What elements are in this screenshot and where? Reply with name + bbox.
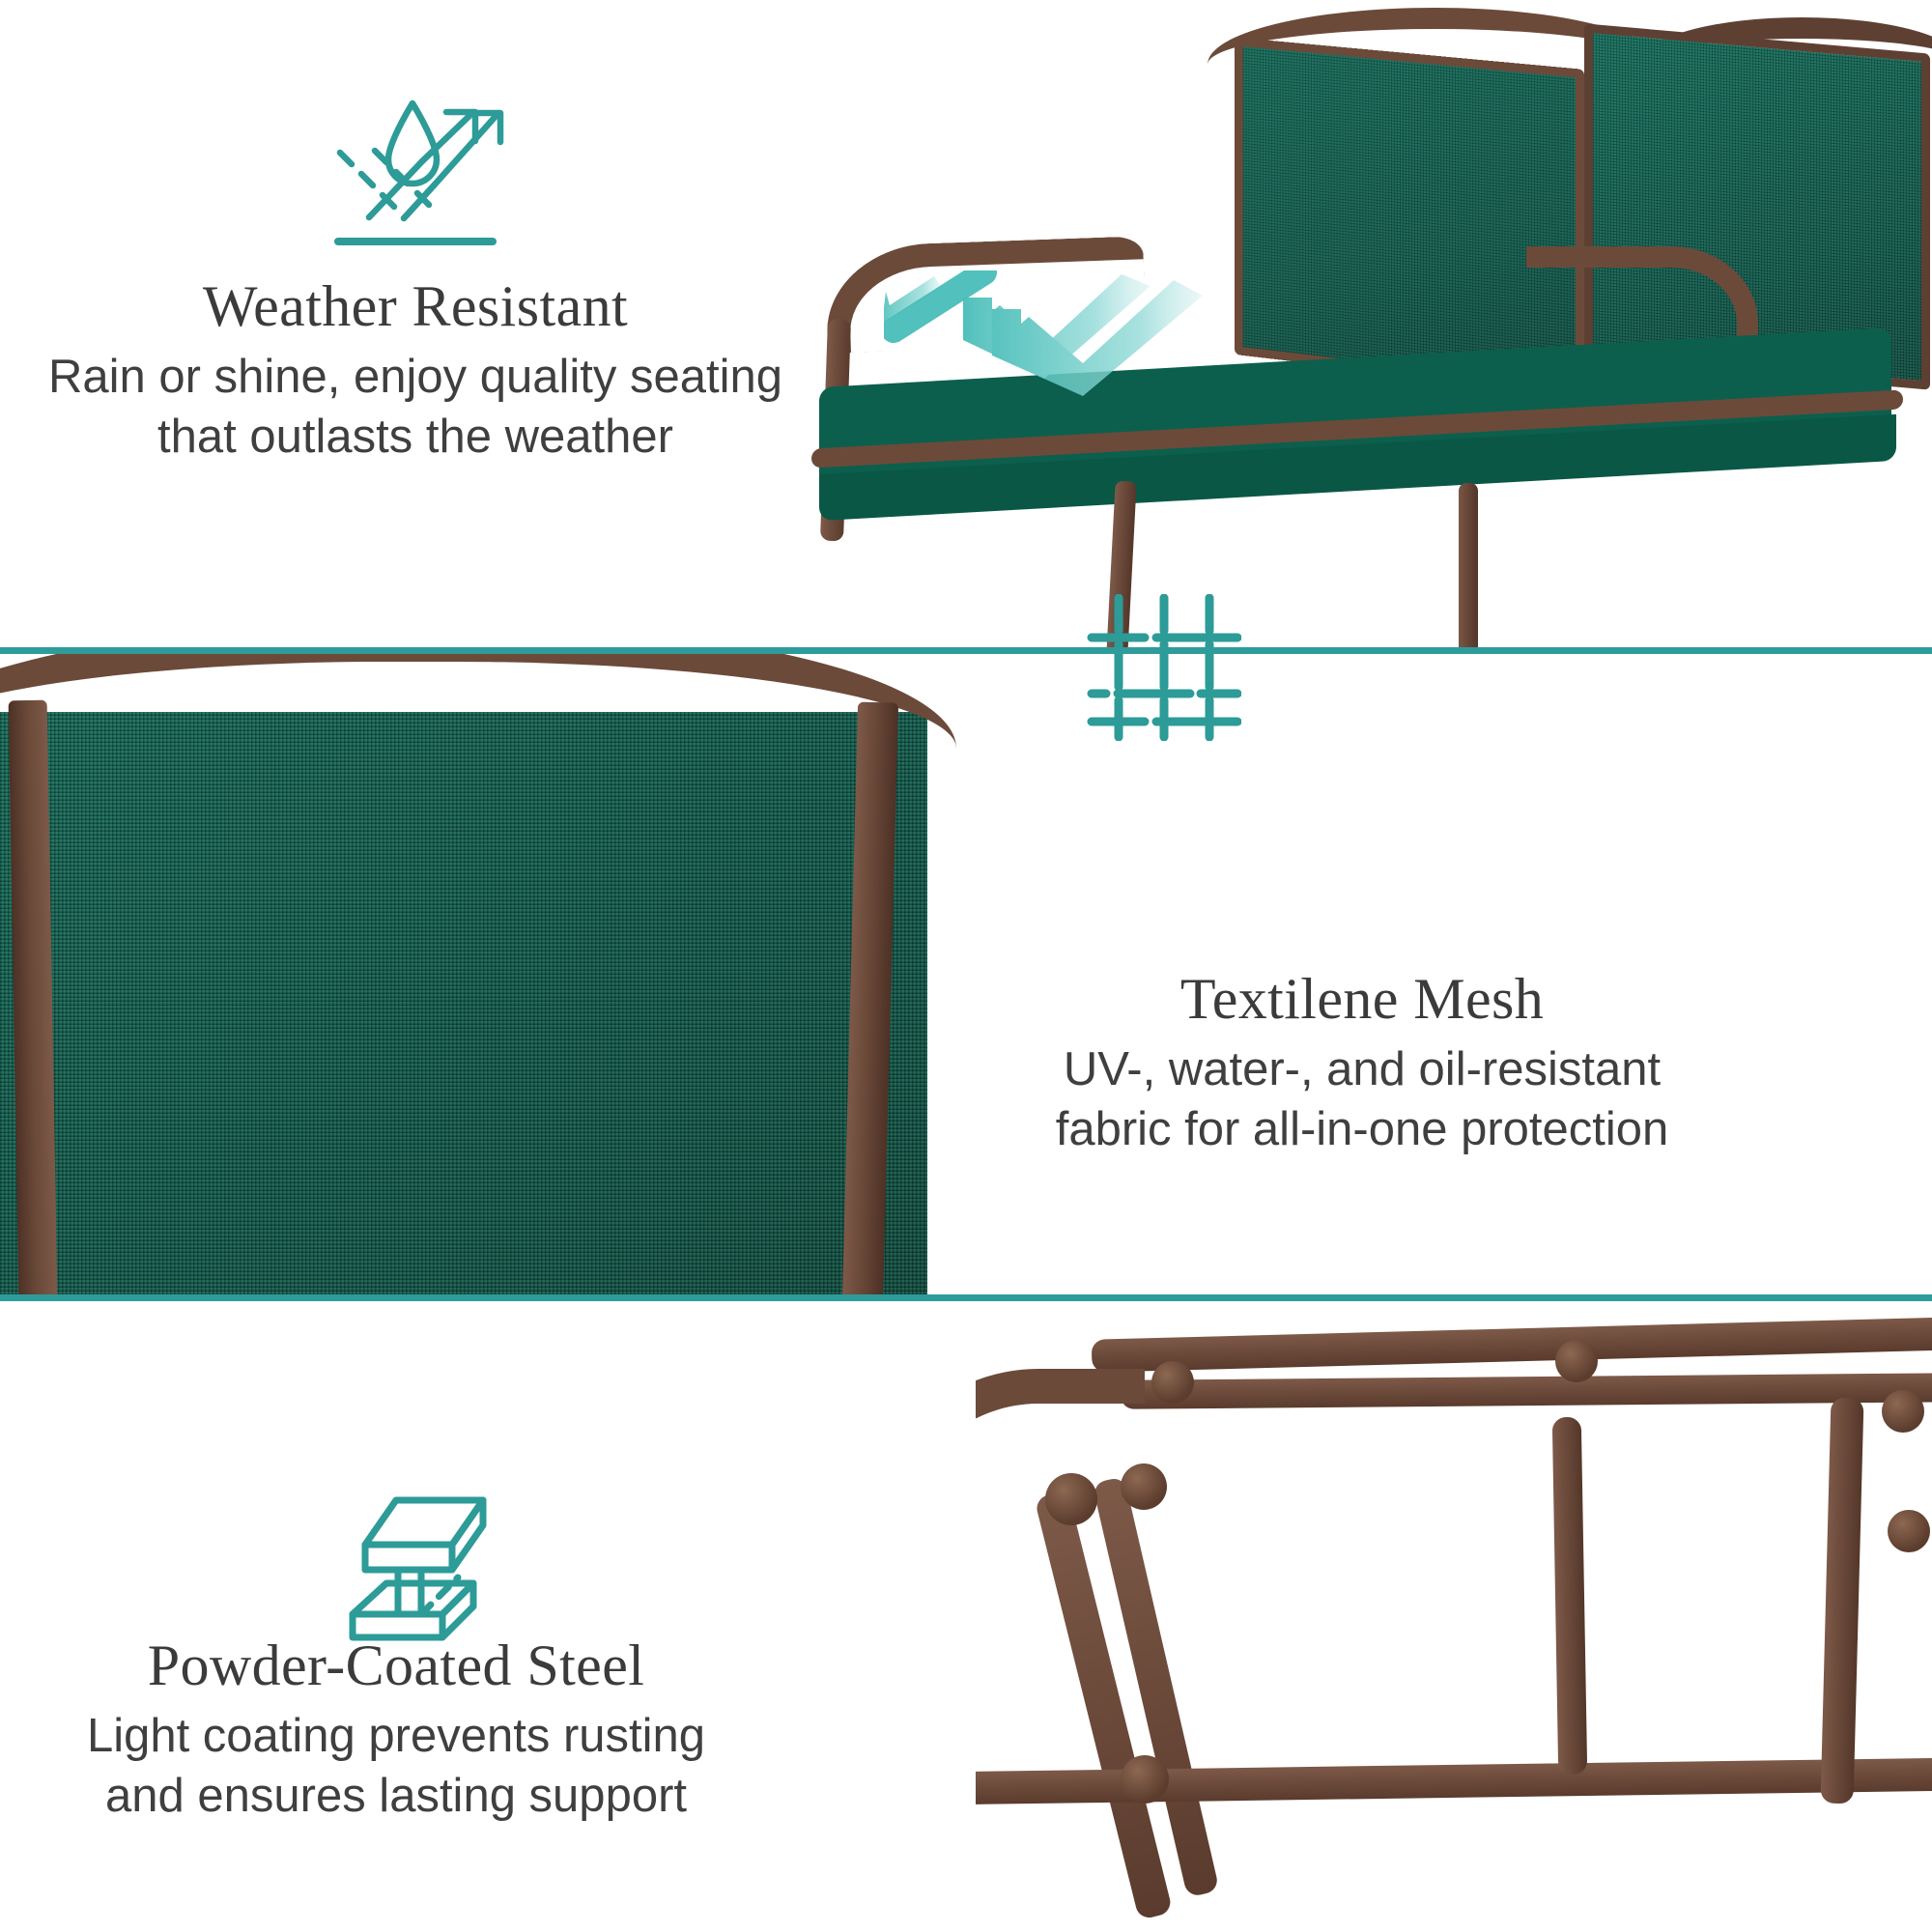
section-divider-1 xyxy=(0,647,1932,654)
feature-title: Weather Resistant xyxy=(0,273,831,340)
glider-frame-photo xyxy=(976,1301,1932,1932)
water-droplet-repel-icon xyxy=(319,92,512,261)
frame-bolt-2 xyxy=(1121,1463,1167,1510)
water-repel-arrows-overlay xyxy=(884,270,1270,415)
feature-title: Powder-Coated Steel xyxy=(0,1633,792,1699)
feature-body-line-2: fabric for all-in-one protection xyxy=(792,1100,1932,1160)
frame-post-center xyxy=(1552,1417,1587,1775)
feature-body: Rain or shine, enjoy quality seating tha… xyxy=(0,348,831,467)
feature-body-line-1: UV-, water-, and oil-resistant xyxy=(792,1040,1932,1100)
feature-body: Light coating prevents rusting and ensur… xyxy=(0,1707,792,1826)
frame-bolt-4 xyxy=(1555,1340,1598,1382)
feature-body-line-2: and ensures lasting support xyxy=(0,1767,792,1827)
feature-weather-resistant-text: Weather Resistant Rain or shine, enjoy q… xyxy=(0,273,831,467)
i-beam-steel-icon xyxy=(328,1491,507,1645)
section-divider-2 xyxy=(0,1294,1932,1301)
feature-title: Textilene Mesh xyxy=(792,966,1932,1033)
feature-body-line-1: Rain or shine, enjoy quality seating xyxy=(0,348,831,408)
feature-powder-coated-steel-text: Powder-Coated Steel Light coating preven… xyxy=(0,1633,792,1826)
frame-top-rail xyxy=(1092,1317,1932,1373)
feature-infographic: Weather Resistant Rain or shine, enjoy q… xyxy=(0,0,1932,1932)
feature-body-line-1: Light coating prevents rusting xyxy=(0,1707,792,1767)
frame-bolt-6 xyxy=(1888,1510,1930,1552)
frame-bolt-7 xyxy=(1882,1390,1924,1433)
frame-leg-right xyxy=(1459,483,1478,647)
frame-post-right xyxy=(1821,1398,1864,1804)
frame-bolt-3 xyxy=(1151,1361,1194,1404)
chair-back-top-rail xyxy=(0,654,956,749)
glider-loveseat-photo xyxy=(792,0,1932,647)
frame-bolt-1 xyxy=(1045,1473,1097,1525)
feature-body-line-2: that outlasts the weather xyxy=(0,408,831,468)
frame-bolt-5 xyxy=(1121,1755,1169,1804)
frame-upper-cross-rail xyxy=(1121,1373,1932,1409)
woven-mesh-grid-icon xyxy=(1087,594,1241,741)
feature-body: UV-, water-, and oil-resistant fabric fo… xyxy=(792,1040,1932,1159)
feature-textilene-mesh-text: Textilene Mesh UV-, water-, and oil-resi… xyxy=(792,966,1932,1159)
textilene-mesh-fabric xyxy=(0,712,927,1294)
